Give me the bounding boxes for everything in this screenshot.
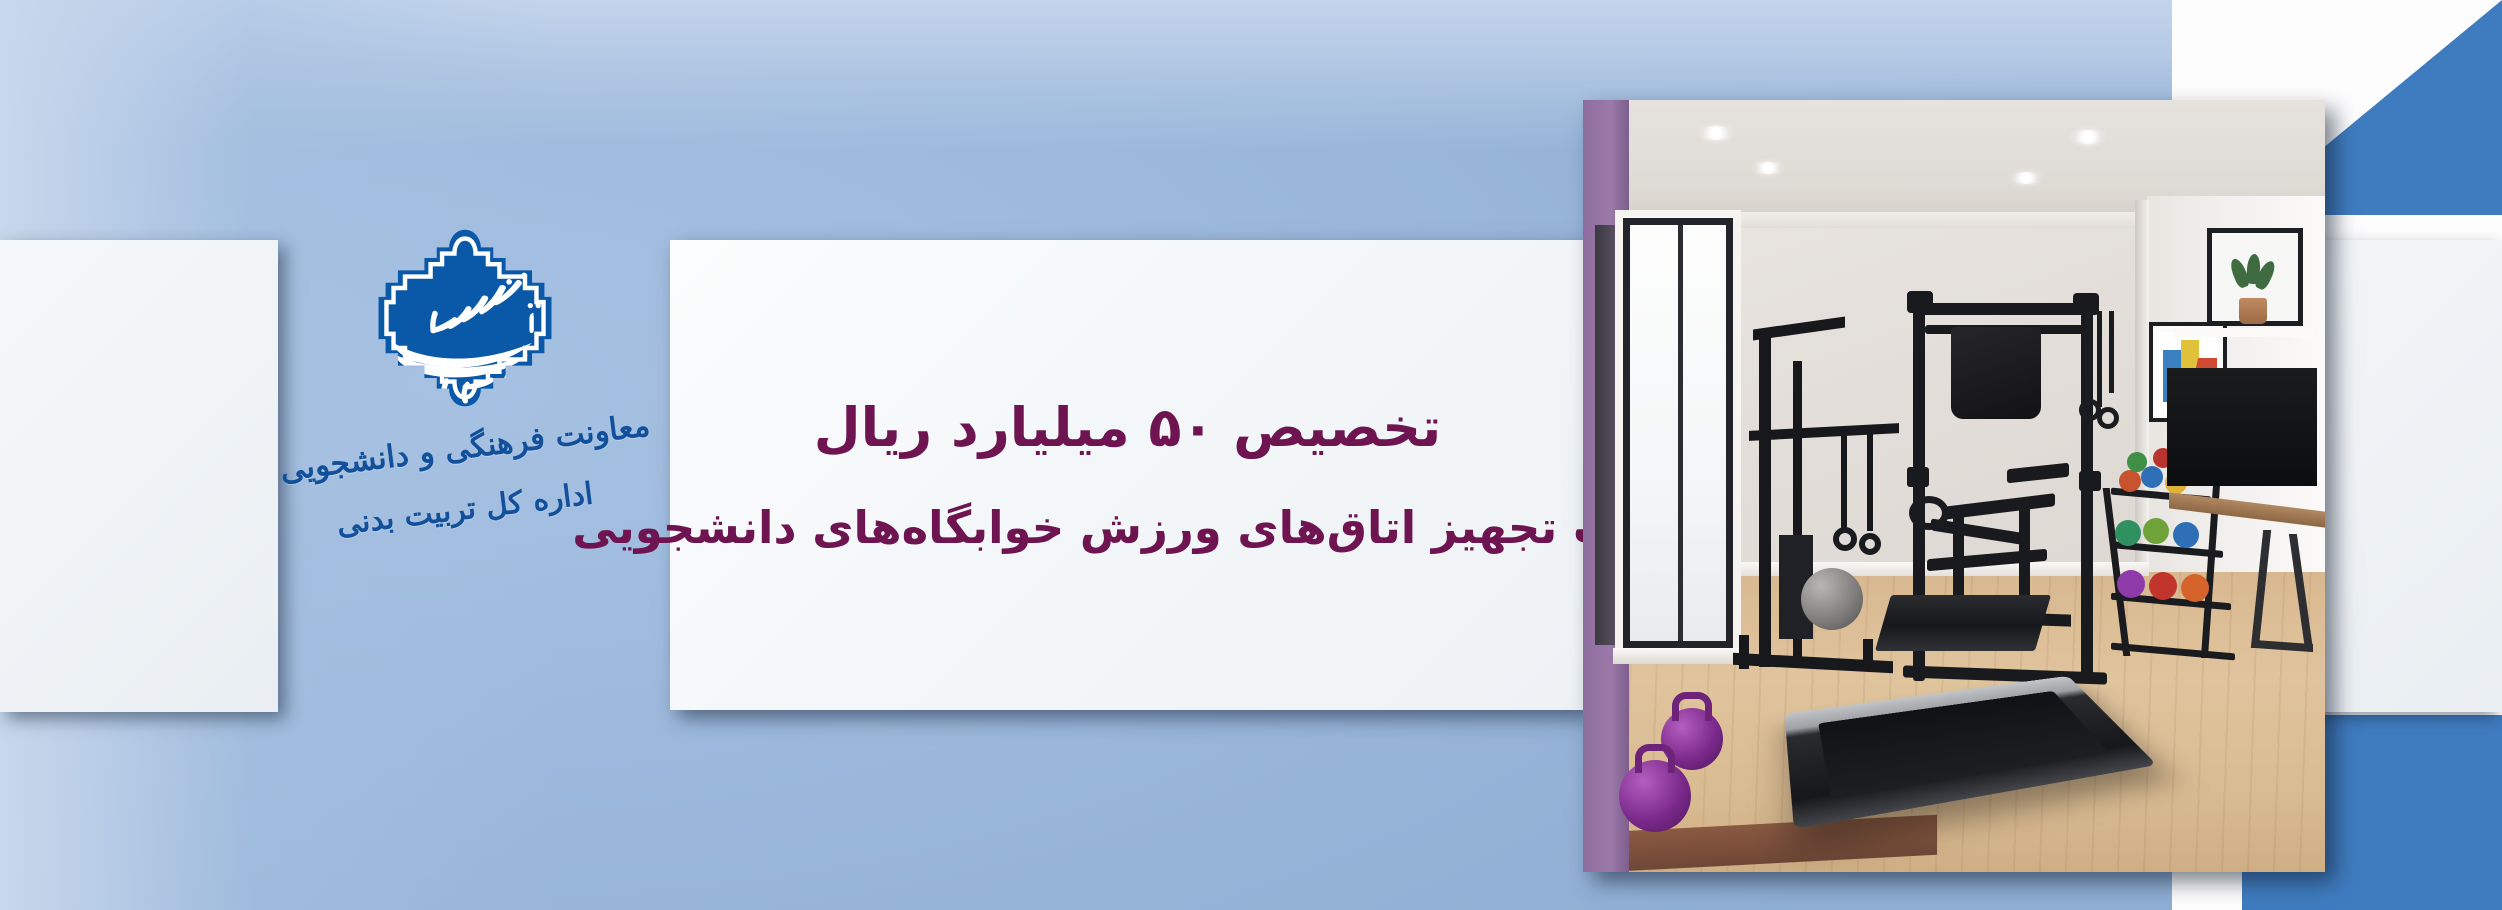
photo-medicine-ball (2119, 470, 2141, 492)
banner-stage: معاونت فرهنگی و دانشجویی اداره کل تربیت … (0, 0, 2502, 910)
photo-treadmill-belt (1818, 691, 2109, 799)
photo-medicine-ball (2115, 520, 2141, 546)
photo-medicine-ball (2141, 466, 2163, 488)
photo-plant-pot (2239, 298, 2267, 324)
photo-wall-shelf (2173, 328, 2313, 337)
headline-line-1: تخصیص ۵۰ میلیارد ریال (814, 396, 1442, 459)
photo-ceiling-light (2073, 130, 2103, 144)
photo-medicine-ball (2117, 570, 2145, 598)
photo-stool (2253, 530, 2315, 680)
university-logo-icon (376, 228, 554, 408)
photo-gymnastic-rings (2083, 311, 2119, 441)
headline-line-2: جهت تجهیز اتاق‌های ورزش خوابگاه‌های دانش… (572, 501, 1682, 554)
photo-ceiling-light (1701, 126, 1731, 140)
photo-treadmill-deck (1784, 676, 2157, 829)
photo-medicine-ball (2181, 574, 2209, 602)
photo-window (1623, 218, 1733, 648)
gym-room-photo (1583, 100, 2325, 872)
photo-kettlebell (1619, 760, 1691, 832)
headline-card: تخصیص ۵۰ میلیارد ریال جهت تجهیز اتاق‌های… (670, 240, 1585, 710)
org-line-deputy: معاونت فرهنگی و دانشجویی (278, 407, 652, 488)
decorative-left-panel (0, 240, 278, 712)
photo-ceiling-light (2013, 172, 2039, 184)
photo-television (2167, 368, 2317, 486)
photo-window-sill (1613, 648, 1745, 664)
photo-scene (1583, 100, 2325, 872)
photo-medicine-ball (2173, 522, 2199, 548)
photo-punching-bag (1951, 327, 2041, 419)
photo-medicine-ball (2143, 518, 2169, 544)
brand-block: معاونت فرهنگی و دانشجویی اداره کل تربیت … (300, 228, 630, 668)
photo-ceiling-light (1755, 162, 1781, 174)
photo-medicine-ball (2127, 452, 2147, 472)
org-line-department: اداره کل تربیت بدنی (335, 476, 595, 542)
photo-exercise-ball (1801, 568, 1863, 630)
photo-treadmill (1793, 640, 2123, 835)
photo-potted-plant (2227, 258, 2279, 324)
photo-medicine-ball (2149, 572, 2177, 600)
